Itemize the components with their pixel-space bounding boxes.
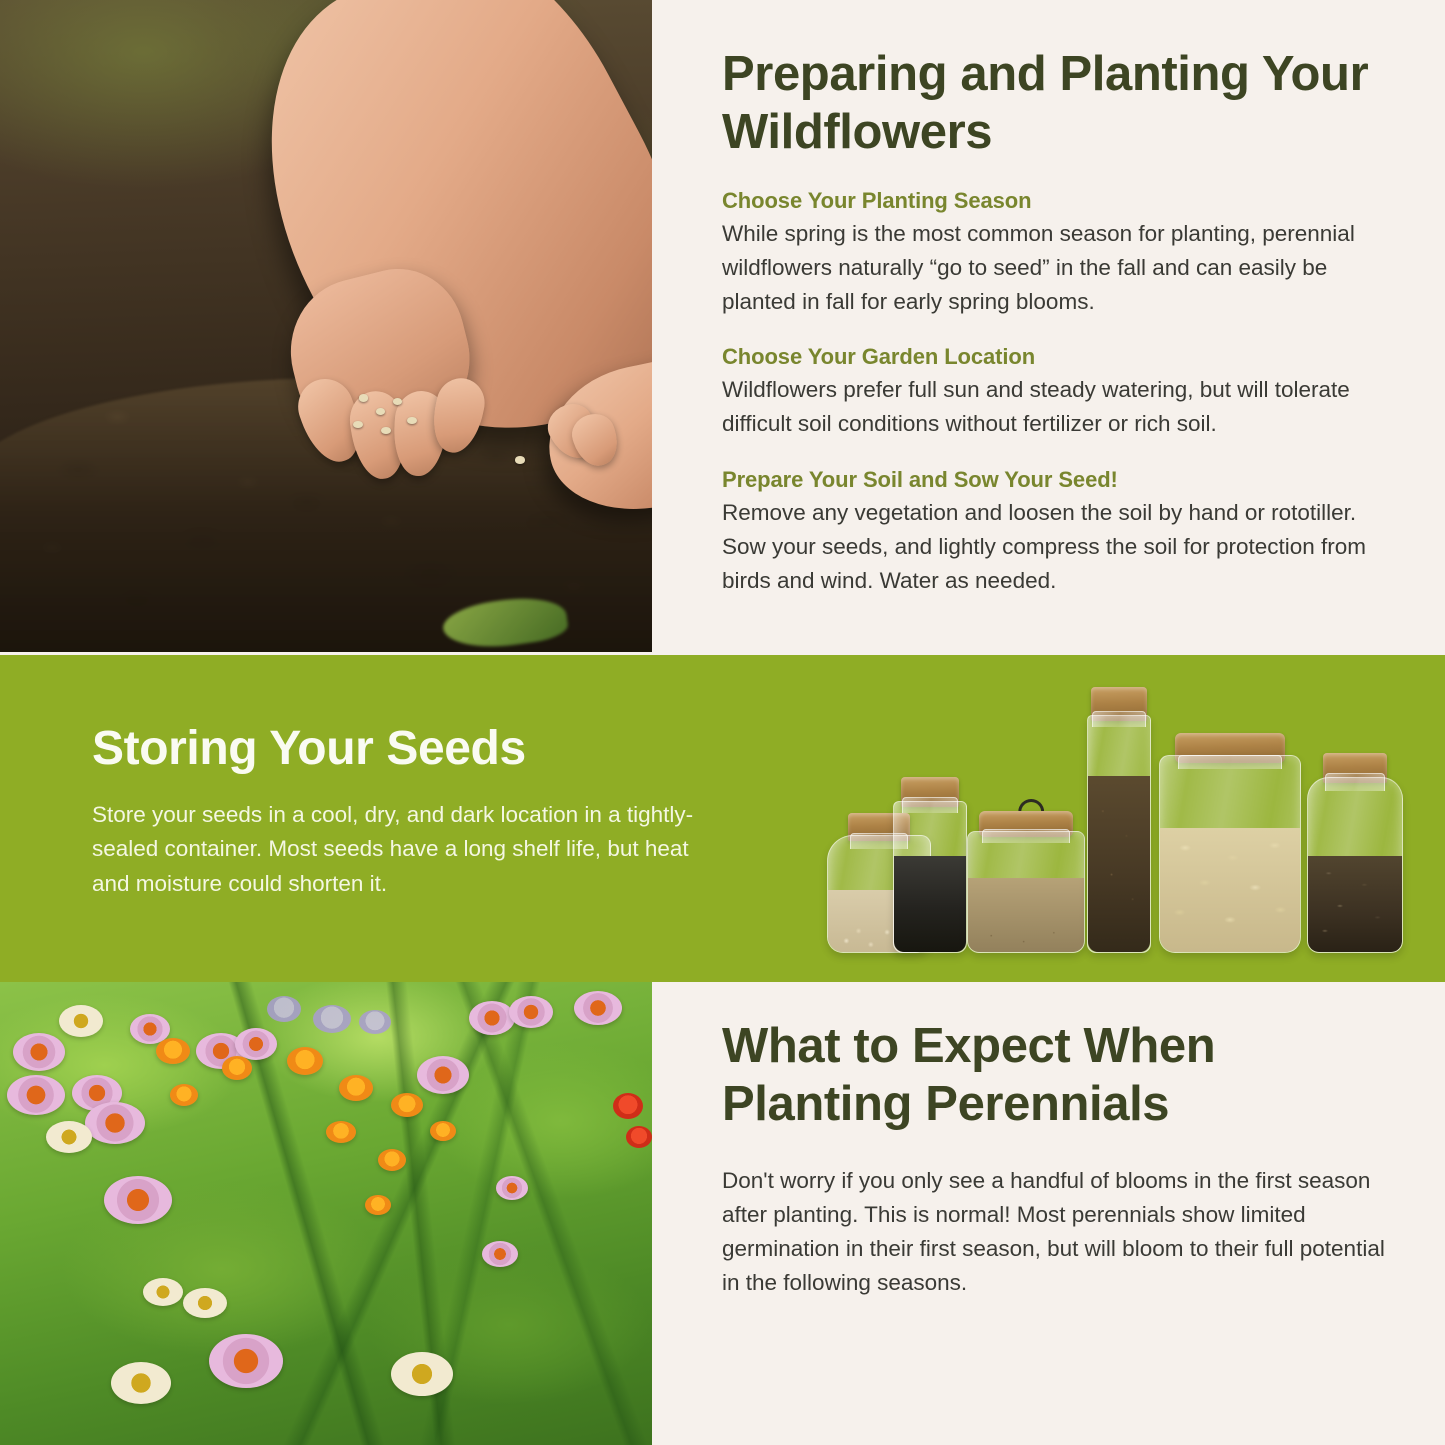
seed-jars-illustration — [815, 667, 1415, 967]
subheading-prepare-soil: Prepare Your Soil and Sow Your Seed! — [722, 467, 1394, 493]
lilac-bloom — [267, 996, 301, 1022]
what-to-expect-body: Don't worry if you only see a handful of… — [722, 1164, 1394, 1301]
jar-glass — [893, 801, 967, 953]
butterfly-weed-bloom — [378, 1149, 406, 1171]
seed-fill — [1308, 856, 1402, 952]
coneflower-bloom — [509, 996, 553, 1028]
white-coneflower-bloom — [111, 1362, 171, 1404]
seed-icon — [376, 408, 386, 415]
jar-glass — [1307, 777, 1403, 953]
storing-seeds-body: Store your seeds in a cool, dry, and dar… — [92, 798, 717, 901]
butterfly-weed-bloom — [222, 1056, 252, 1080]
brown-seed-tube-jar — [1087, 691, 1151, 953]
lilac-bloom — [359, 1010, 391, 1034]
body-prepare-soil: Remove any vegetation and loosen the soi… — [722, 496, 1394, 599]
red-bloom — [626, 1126, 652, 1148]
bottom-text-column: What to Expect When Planting Perennials … — [722, 1018, 1394, 1300]
coneflower-bloom — [469, 1001, 515, 1035]
what-to-expect-title: What to Expect When Planting Perennials — [722, 1018, 1394, 1134]
seed-icon — [515, 456, 525, 463]
coneflower-bloom — [13, 1033, 65, 1071]
coneflower-bloom — [574, 991, 622, 1025]
seed-fill — [894, 856, 966, 952]
photo-wildflower-meadow — [0, 982, 652, 1445]
seed-fill — [1160, 828, 1300, 952]
sunflower-seed-jar — [1307, 747, 1403, 953]
top-text-column: Preparing and Planting Your Wildflowers … — [722, 46, 1394, 598]
white-coneflower-bloom — [46, 1121, 92, 1153]
butterfly-weed-bloom — [156, 1038, 190, 1064]
red-bloom — [613, 1093, 643, 1119]
butterfly-weed-bloom — [365, 1195, 391, 1215]
coneflower-bloom — [417, 1056, 469, 1094]
green-text-column: Storing Your Seeds Store your seeds in a… — [92, 721, 717, 901]
pumpkin-seed-jar — [1159, 727, 1301, 953]
subheading-garden-location: Choose Your Garden Location — [722, 344, 1394, 370]
black-seed-jar — [893, 777, 967, 953]
jar-glass — [967, 831, 1085, 953]
coneflower-bloom — [209, 1334, 283, 1388]
jar-glass — [1087, 715, 1151, 953]
coneflower-bloom — [496, 1176, 528, 1200]
body-garden-location: Wildflowers prefer full sun and steady w… — [722, 373, 1394, 441]
butterfly-weed-bloom — [430, 1121, 456, 1141]
butterfly-weed-bloom — [287, 1047, 323, 1075]
photo-hands-sowing-seeds — [0, 0, 652, 652]
storing-seeds-title: Storing Your Seeds — [92, 721, 717, 776]
meadow-leaf-texture — [0, 982, 652, 1445]
seed-icon — [359, 394, 369, 401]
body-planting-season: While spring is the most common season f… — [722, 217, 1394, 320]
seed-fill — [968, 878, 1084, 952]
coneflower-bloom — [85, 1102, 145, 1144]
butterfly-weed-bloom — [170, 1084, 198, 1106]
lilac-bloom — [313, 1005, 351, 1033]
butterfly-weed-bloom — [326, 1121, 356, 1143]
section-preparing-and-planting: Preparing and Planting Your Wildflowers … — [0, 0, 1445, 655]
page-title: Preparing and Planting Your Wildflowers — [722, 46, 1394, 162]
fine-tan-seed-jar — [967, 803, 1085, 953]
white-coneflower-bloom — [59, 1005, 103, 1037]
jar-glass — [1159, 755, 1301, 953]
infographic-page: Preparing and Planting Your Wildflowers … — [0, 0, 1445, 1445]
seed-fill — [1088, 776, 1150, 952]
butterfly-weed-bloom — [339, 1075, 373, 1101]
subheading-planting-season: Choose Your Planting Season — [722, 188, 1394, 214]
seed-icon — [381, 427, 391, 434]
white-coneflower-bloom — [183, 1288, 227, 1318]
seed-icon — [393, 398, 403, 405]
section-storing-your-seeds: Storing Your Seeds Store your seeds in a… — [0, 655, 1445, 982]
section-what-to-expect: What to Expect When Planting Perennials … — [0, 982, 1445, 1445]
coneflower-bloom — [7, 1075, 65, 1115]
